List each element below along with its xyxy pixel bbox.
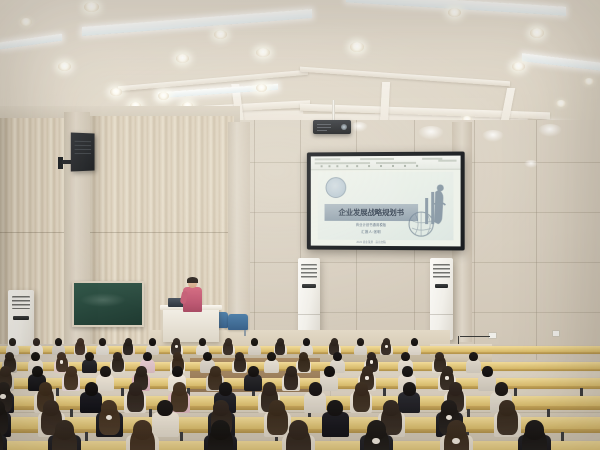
audience-head xyxy=(482,366,493,377)
audience-head xyxy=(248,366,259,377)
audience-head xyxy=(447,420,466,440)
audience-head xyxy=(85,382,98,396)
audience-head xyxy=(403,382,416,396)
audience-member xyxy=(440,420,473,450)
audience-head xyxy=(355,382,368,396)
audience-head xyxy=(149,338,157,346)
audience-head xyxy=(43,400,59,416)
audience-head xyxy=(55,338,63,346)
audience-head xyxy=(495,382,508,396)
audience-head xyxy=(55,420,74,440)
audience-member xyxy=(360,420,393,450)
audience-head xyxy=(99,338,107,346)
audience-head xyxy=(66,366,77,377)
audience-head xyxy=(199,338,207,346)
audience-member xyxy=(380,338,393,355)
hair-tie xyxy=(370,360,374,363)
audience-head xyxy=(210,366,221,377)
audience-head xyxy=(32,366,43,377)
audience-head xyxy=(367,420,386,440)
audience-member xyxy=(124,382,146,413)
audience xyxy=(0,0,600,450)
audience-member xyxy=(322,400,349,437)
audience-head xyxy=(499,400,515,416)
audience-head xyxy=(9,338,17,346)
audience-torso xyxy=(264,359,279,373)
audience-member xyxy=(494,400,521,437)
audience-member xyxy=(350,382,372,413)
audience-head xyxy=(402,366,413,377)
audience-head xyxy=(251,338,259,346)
audience-member xyxy=(62,366,80,391)
audience-member xyxy=(248,338,261,355)
audience-head xyxy=(277,338,285,346)
audience-member xyxy=(518,420,551,450)
audience-member xyxy=(204,420,237,450)
audience-head xyxy=(33,338,41,346)
audience-head xyxy=(411,338,419,346)
audience-head xyxy=(125,338,133,346)
audience-head xyxy=(225,338,233,346)
audience-member xyxy=(282,420,315,450)
audience-head xyxy=(129,382,142,396)
audience-member xyxy=(126,420,159,450)
audience-head xyxy=(100,366,111,377)
audience-hair-long xyxy=(0,427,3,450)
audience-head xyxy=(525,420,544,440)
audience-head xyxy=(309,382,322,396)
audience-head xyxy=(219,382,232,396)
audience-head xyxy=(441,400,457,416)
audience-head xyxy=(211,420,230,440)
audience-head xyxy=(286,366,297,377)
audience-member xyxy=(48,420,81,450)
audience-head xyxy=(213,400,229,416)
audience-head xyxy=(133,420,152,440)
audience-head xyxy=(39,382,52,396)
hair-tie xyxy=(175,345,178,348)
audience-head xyxy=(303,338,311,346)
audience-head xyxy=(172,366,183,377)
lecture-hall-photo: 企业发展战略规划书 商业计划书通用模板 汇报人:张明 2023 商业策划 · 演… xyxy=(0,0,600,450)
audience-head xyxy=(383,400,399,416)
audience-head xyxy=(263,382,276,396)
hair-tie xyxy=(0,394,6,399)
audience-head xyxy=(157,400,173,416)
audience-head xyxy=(0,366,11,377)
audience-member xyxy=(96,400,123,437)
hair-tie xyxy=(60,360,64,363)
audience-member xyxy=(0,420,7,450)
audience-member xyxy=(264,352,279,373)
audience-head xyxy=(449,382,462,396)
audience-head xyxy=(357,338,365,346)
audience-head xyxy=(136,366,147,377)
hair-tie xyxy=(445,376,450,380)
audience-member xyxy=(96,338,109,355)
audience-head xyxy=(327,400,343,416)
audience-head xyxy=(331,338,339,346)
audience-head xyxy=(324,366,335,377)
audience-head xyxy=(173,382,186,396)
hair-tie xyxy=(385,345,388,348)
audience-head xyxy=(289,420,308,440)
audience-head xyxy=(77,338,85,346)
audience-member xyxy=(282,366,300,391)
audience-head xyxy=(269,400,285,416)
hair-tie xyxy=(365,376,370,380)
audience-head xyxy=(101,400,117,416)
